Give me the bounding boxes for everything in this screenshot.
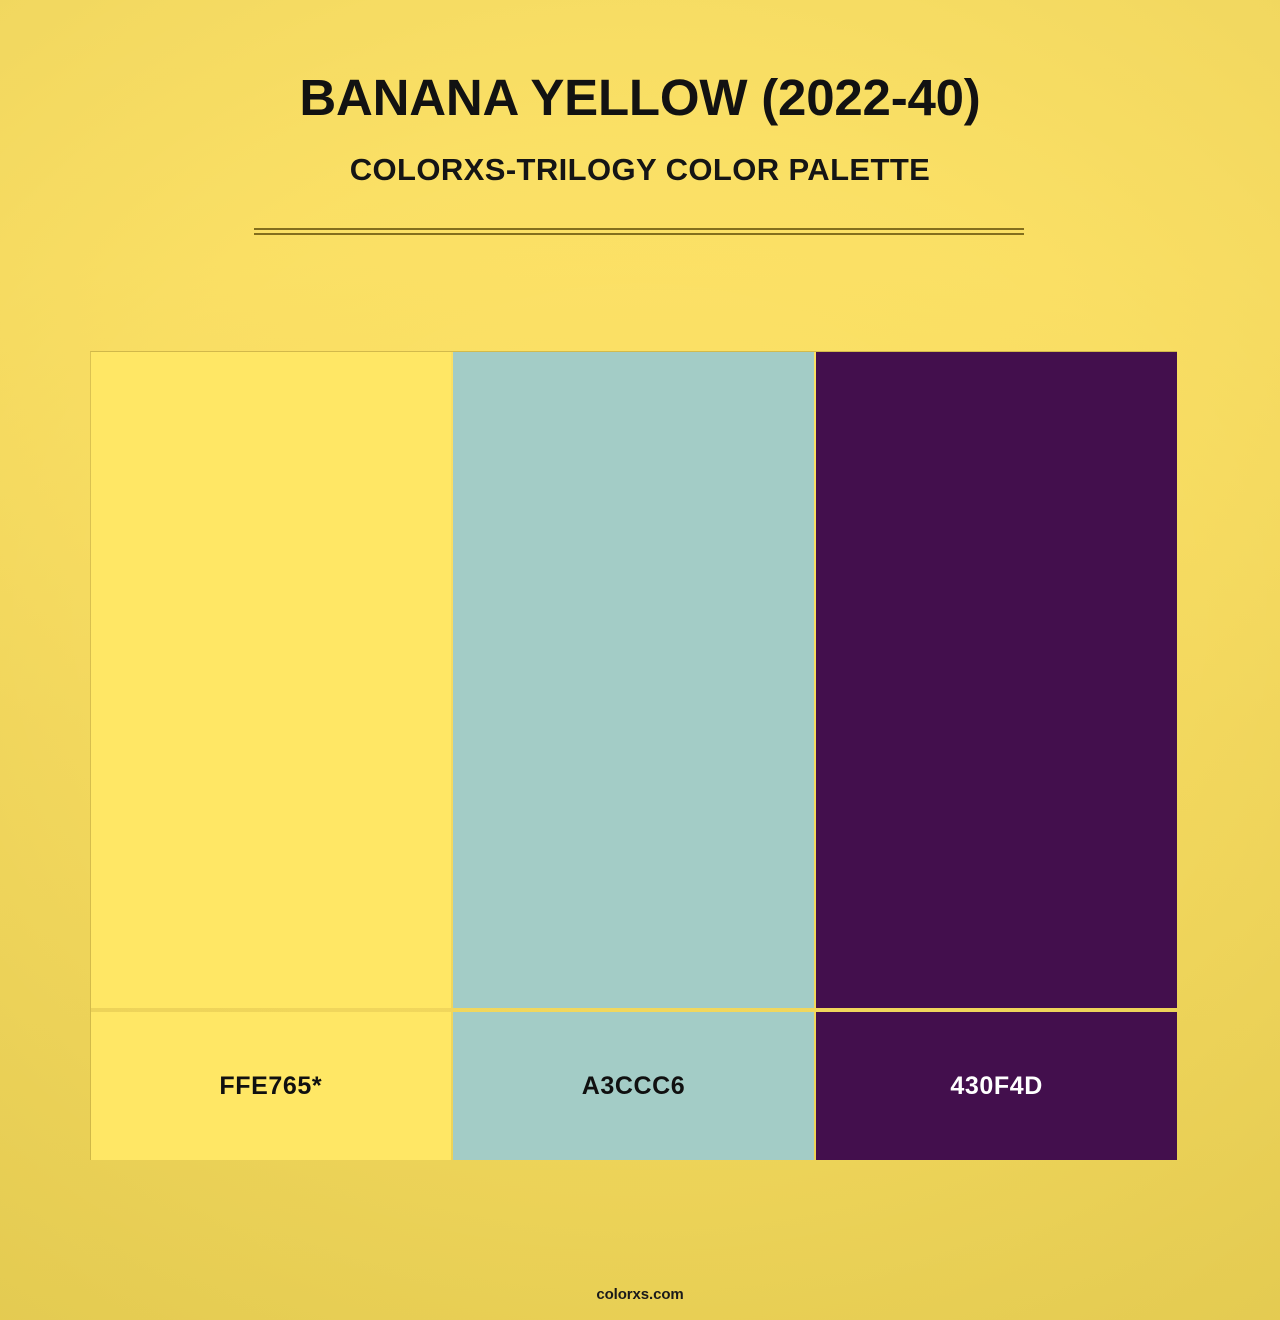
color-label-cell[interactable]: A3CCC6	[453, 1012, 815, 1160]
page-subtitle: COLORXS-TRILOGY COLOR PALETTE	[0, 123, 1280, 185]
page-header: BANANA YELLOW (2022-40) COLORXS-TRILOGY …	[0, 0, 1280, 185]
color-hex-label: FFE765*	[219, 1074, 322, 1099]
color-swatch[interactable]	[816, 352, 1177, 1008]
page-title: BANANA YELLOW (2022-40)	[0, 0, 1280, 123]
color-palette-page: BANANA YELLOW (2022-40) COLORXS-TRILOGY …	[0, 0, 1280, 1320]
color-label-cell[interactable]: 430F4D	[816, 1012, 1177, 1160]
divider-line-top	[254, 228, 1024, 230]
header-divider	[254, 228, 1024, 235]
color-swatch[interactable]	[453, 352, 815, 1008]
color-swatch[interactable]	[91, 352, 451, 1008]
palette-panel: FFE765* A3CCC6 430F4D	[90, 351, 1177, 1160]
color-hex-label: A3CCC6	[582, 1074, 686, 1099]
color-hex-label: 430F4D	[950, 1074, 1043, 1099]
divider-line-bottom	[254, 233, 1024, 235]
site-attribution: colorxs.com	[596, 1286, 683, 1303]
swatch-row	[91, 352, 1177, 1008]
page-footer: colorxs.com	[0, 1286, 1280, 1304]
swatch-label-row: FFE765* A3CCC6 430F4D	[91, 1012, 1177, 1160]
color-label-cell[interactable]: FFE765*	[91, 1012, 451, 1160]
